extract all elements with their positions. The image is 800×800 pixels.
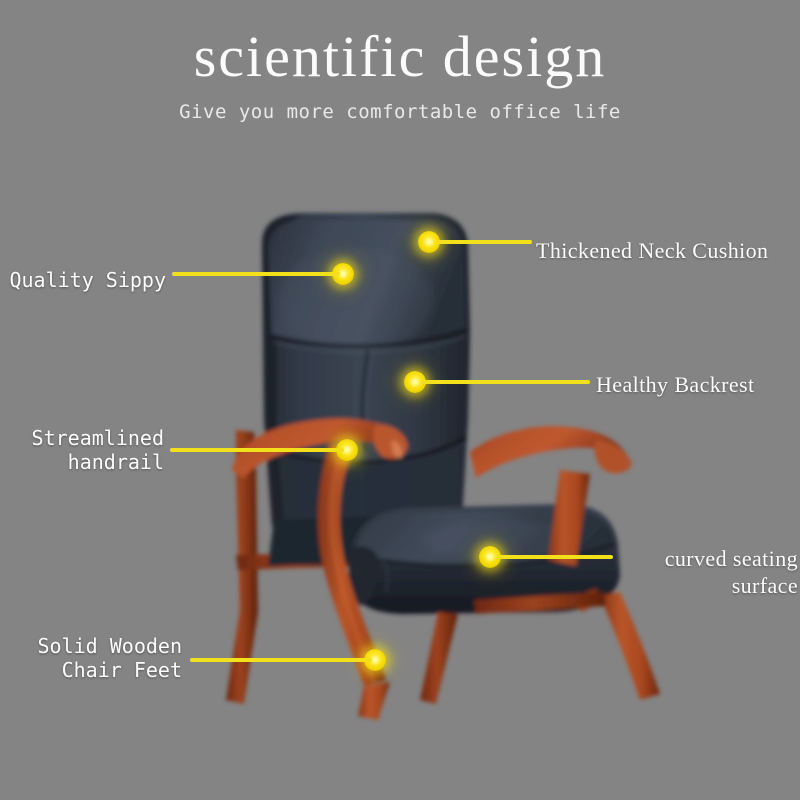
callout-leader-quality-sippy xyxy=(172,272,340,276)
callout-leader-thickened-neck-cushion xyxy=(436,240,532,244)
callout-label-thickened-neck-cushion: Thickened Neck Cushion xyxy=(536,238,798,265)
callout-label-curved-seating-surface: curved seating surface xyxy=(560,546,798,600)
infographic-canvas: scientific design Give you more comforta… xyxy=(0,0,800,800)
callout-label-quality-sippy: Quality Sippy xyxy=(0,268,166,292)
callout-leader-healthy-backrest xyxy=(422,380,590,384)
callout-layer: Thickened Neck Cushion Quality Sippy Hea… xyxy=(0,0,800,800)
callout-leader-solid-wooden-chair-feet xyxy=(190,658,372,662)
callout-leader-streamlined-handrail xyxy=(170,448,344,452)
callout-label-streamlined-handrail: Streamlined handrail xyxy=(0,426,164,475)
callout-label-solid-wooden-chair-feet: Solid Wooden Chair Feet xyxy=(0,634,182,683)
callout-label-healthy-backrest: Healthy Backrest xyxy=(596,372,800,399)
